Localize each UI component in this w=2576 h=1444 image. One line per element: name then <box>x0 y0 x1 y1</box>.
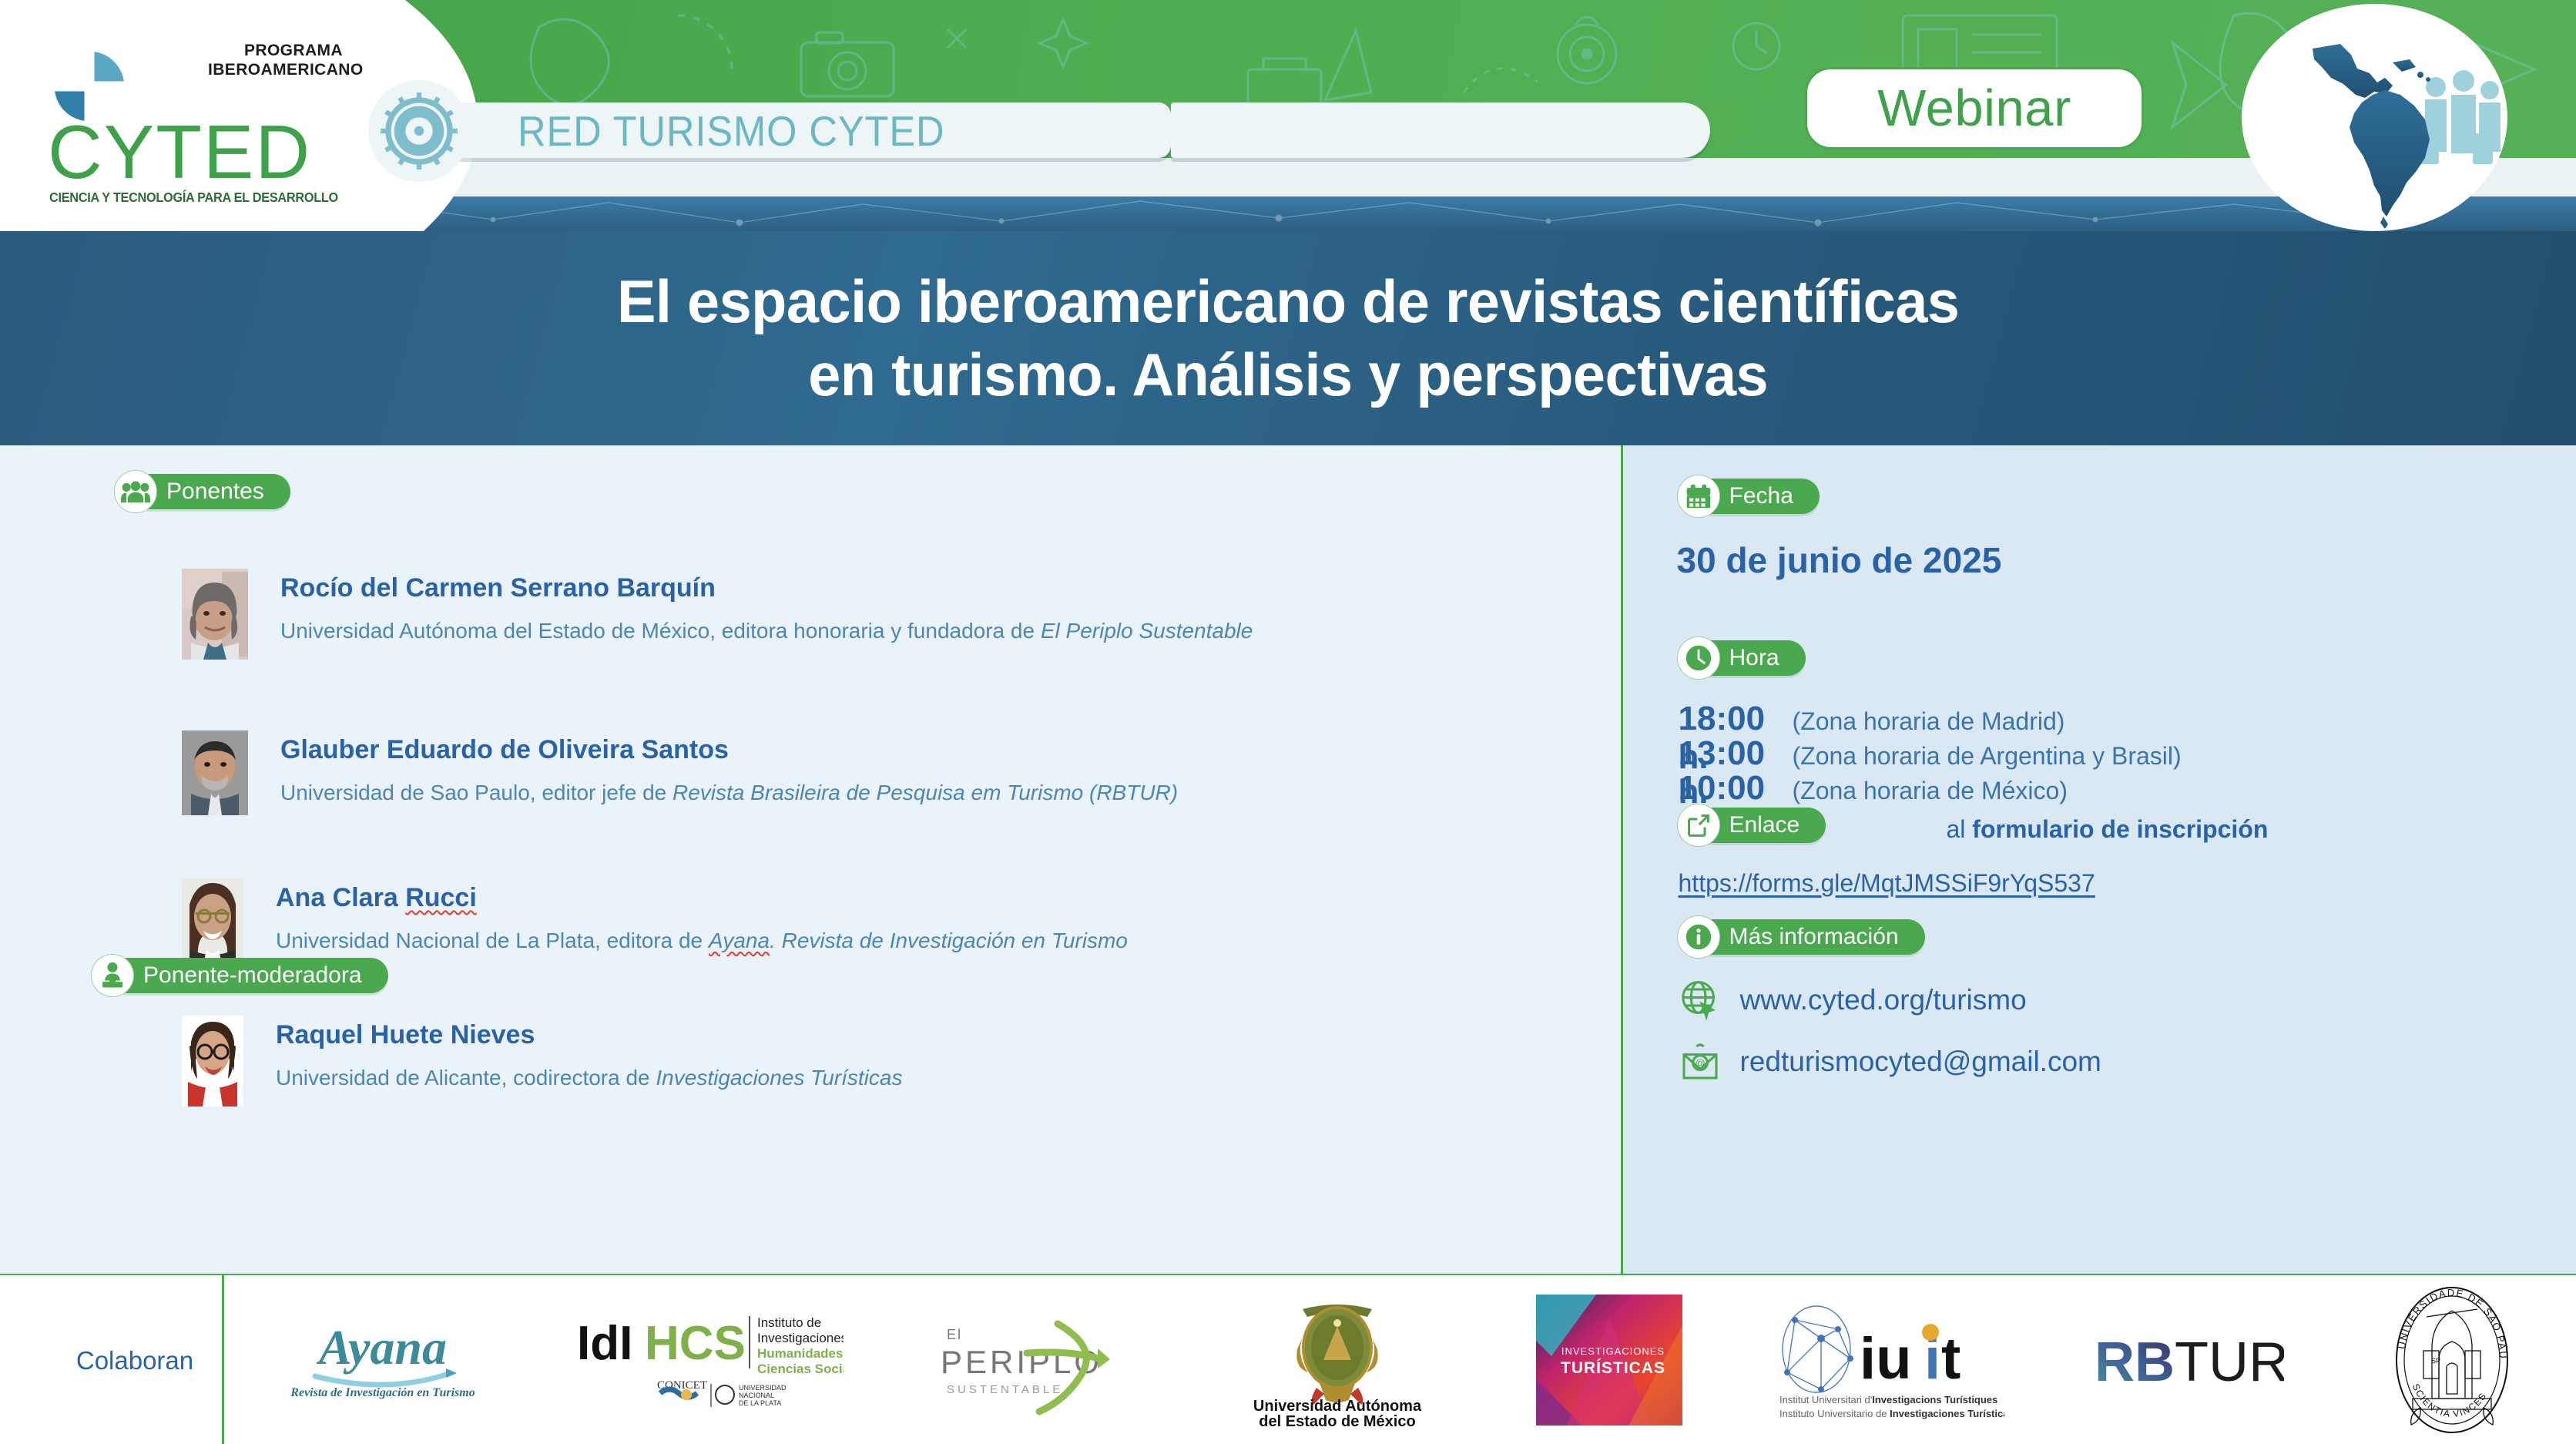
rbtur-logo: RB TUR <box>2084 1318 2292 1402</box>
svg-text:Instituto de: Instituto de <box>757 1315 821 1330</box>
svg-text:SCIENTIA VINCES: SCIENTIA VINCES <box>2410 1382 2488 1419</box>
latin-america-globe <box>2242 4 2507 231</box>
time-zone: (Zona horaria de México) <box>1793 777 2068 805</box>
speaker-affiliation: Universidad Nacional de La Plata, editor… <box>276 925 1128 956</box>
speaker-row: Ana Clara Rucci Universidad Nacional de … <box>182 878 1128 965</box>
enlace-pill: Enlace <box>1709 808 1826 843</box>
website-row[interactable]: www.cyted.org/turismo <box>1679 979 2027 1022</box>
speaker-name: Ana Clara Rucci <box>276 882 1128 915</box>
globe-cursor-icon <box>1679 979 1722 1022</box>
svg-text:Instituto Universitario de Inv: Instituto Universitario de Investigacion… <box>1779 1408 2004 1419</box>
speaker-row: Rocío del Carmen Serrano Barquín Univers… <box>182 569 1253 660</box>
el-periplo-sustentable-logo: El PERIPLO SUSTENTABLE <box>919 1302 1150 1418</box>
ayana-logo: Ayana Revista de Investigación en Turism… <box>267 1310 498 1410</box>
svg-text:HCS: HCS <box>645 1317 746 1370</box>
registration-link[interactable]: https://forms.gle/MqtJMSSiF9rYqS537 <box>1679 869 2095 898</box>
svg-text:IdI: IdI <box>577 1317 632 1370</box>
time-zone: (Zona horaria de Argentina y Brasil) <box>1793 742 2182 771</box>
programa-line2: IBEROAMERICANO <box>208 61 343 80</box>
programa-iberoamericano-label: PROGRAMA IBEROAMERICANO <box>208 42 343 80</box>
svg-text:Universidad Autónoma: Universidad Autónoma <box>1253 1398 1421 1415</box>
speaker-name: Rocío del Carmen Serrano Barquín <box>280 572 1253 605</box>
avatar <box>182 1016 243 1107</box>
svg-text:UNIVERSIDAD: UNIVERSIDAD <box>739 1384 787 1392</box>
hora-pill: Hora <box>1709 640 1806 676</box>
cyted-logo: CYTED CIENCIA Y TECNOLOGÍA PARA EL DESAR… <box>31 14 316 207</box>
speaker-affiliation: Universidad de Sao Paulo, editor jefe de… <box>280 777 1178 808</box>
svg-text:del Estado de México: del Estado de México <box>1259 1413 1415 1427</box>
svg-text:RB: RB <box>2095 1332 2175 1393</box>
details-panel: Fecha 30 de junio de 2025 Hora 18:00 h. … <box>1623 445 2576 1274</box>
title-band: El espacio iberoamericano de revistas ci… <box>0 231 2576 445</box>
ponentes-pill: Ponentes <box>146 474 290 509</box>
hora-badge: Hora <box>1677 636 1806 680</box>
avatar <box>182 730 248 815</box>
moderadora-label: Ponente-moderadora <box>143 962 362 989</box>
mas-informacion-label: Más información <box>1729 924 1899 950</box>
svg-text:Ayana: Ayana <box>316 1320 447 1375</box>
email-address: redturismocyted@gmail.com <box>1740 1046 2101 1078</box>
moderadora-pill: Ponente-moderadora <box>123 958 388 993</box>
fecha-pill: Fecha <box>1709 479 1820 514</box>
partner-logos: Ayana Revista de Investigación en Turism… <box>231 1275 2576 1444</box>
people-group-icon <box>114 470 157 513</box>
avatar <box>182 569 248 660</box>
cyted-wordmark: CYTED <box>48 114 311 190</box>
ponentes-badge: Ponentes <box>114 470 290 513</box>
programa-line1: PROGRAMA <box>208 42 343 61</box>
ponentes-label: Ponentes <box>166 479 264 505</box>
svg-text:DE LA PLATA: DE LA PLATA <box>739 1399 781 1407</box>
clock-icon <box>1677 636 1720 680</box>
svg-text:SUSTENTABLE: SUSTENTABLE <box>947 1383 1063 1396</box>
calendar-icon <box>1677 475 1720 518</box>
svg-text:El: El <box>947 1327 962 1342</box>
speaker-name: Glauber Eduardo de Oliveira Santos <box>280 734 1178 767</box>
svg-text:Humanidades y: Humanidades y <box>757 1346 844 1361</box>
time-zone: (Zona horaria de Madrid) <box>1793 707 2065 736</box>
svg-text:NACIONAL: NACIONAL <box>739 1392 774 1399</box>
enlace-badge[interactable]: Enlace <box>1677 804 1826 847</box>
speaker-affiliation: Universidad Autónoma del Estado de Méxic… <box>280 616 1253 646</box>
svg-text:Institut Universitari d'Invest: Institut Universitari d'Investigacions T… <box>1779 1394 1997 1405</box>
webinar-badge: Webinar <box>1805 67 2144 149</box>
svg-text:@: @ <box>1695 1057 1705 1069</box>
svg-text:t: t <box>1941 1326 1961 1392</box>
speakers-panel: Ponentes <box>0 445 1621 1274</box>
cyted-tagline: CIENCIA Y TECNOLOGÍA PARA EL DESARROLLO <box>49 190 338 206</box>
page-title: El espacio iberoamericano de revistas ci… <box>617 265 1959 411</box>
uaem-logo: Universidad Autónoma del Estado de Méxic… <box>1222 1292 1453 1427</box>
latin-america-map-icon <box>2242 4 2507 231</box>
content-area: Ponentes <box>0 445 2576 1274</box>
svg-text:INVESTIGACIONES: INVESTIGACIONES <box>1561 1345 1664 1357</box>
iuit-logo: iu i t Institut Universitari d'Investiga… <box>1766 1298 2012 1422</box>
moderator-name: Raquel Huete Nieves <box>276 1019 902 1052</box>
svg-text:TUR: TUR <box>2175 1332 2284 1393</box>
svg-text:UNIVERSIDADE DE SÃO PAULO: UNIVERSIDADE DE SÃO PAULO <box>2379 1283 2509 1360</box>
svg-text:SP: SP <box>2431 1357 2440 1365</box>
footer-divider <box>222 1275 224 1444</box>
moderator-affiliation: Universidad de Alicante, codirectora de … <box>276 1063 902 1093</box>
svg-text:iu: iu <box>1860 1326 1912 1392</box>
hora-label: Hora <box>1729 645 1779 671</box>
investigaciones-turisticas-logo: INVESTIGACIONES TURÍSTICAS <box>1524 1295 1694 1426</box>
svg-text:Revista de Investigación en Tu: Revista de Investigación en Turismo <box>290 1386 475 1399</box>
email-row[interactable]: @ redturismocyted@gmail.com <box>1679 1040 2101 1083</box>
network-name-label: RED TURISMO CYTED <box>518 107 1098 155</box>
title-line-2: en turismo. Análisis y perspectivas <box>617 338 1959 411</box>
website-url: www.cyted.org/turismo <box>1740 984 2027 1016</box>
moderator-row: Raquel Huete Nieves Universidad de Alica… <box>182 1016 902 1107</box>
info-circle-icon <box>1677 915 1720 959</box>
fecha-badge: Fecha <box>1677 475 1820 518</box>
footer: Colaboran Ayana Revista de Investigación… <box>0 1274 2576 1442</box>
gear-badge <box>368 80 470 182</box>
mas-informacion-badge: Más información <box>1677 915 1925 959</box>
enlace-label: Enlace <box>1729 812 1800 838</box>
colaboran-label: Colaboran <box>46 1346 223 1375</box>
envelope-at-icon: @ <box>1679 1040 1722 1083</box>
title-line-1: El espacio iberoamericano de revistas ci… <box>617 265 1959 338</box>
fecha-label: Fecha <box>1729 483 1793 509</box>
header-banner: CYTED CIENCIA Y TECNOLOGÍA PARA EL DESAR… <box>0 0 2576 231</box>
speaker-row: Glauber Eduardo de Oliveira Santos Unive… <box>182 730 1178 815</box>
mas-informacion-pill: Más información <box>1709 919 1925 955</box>
avatar <box>182 878 243 965</box>
svg-text:TURÍSTICAS: TURÍSTICAS <box>1561 1359 1665 1377</box>
moderadora-badge: Ponente-moderadora <box>91 954 388 997</box>
enlace-lead-text: al formulario de inscripción <box>1947 815 2269 844</box>
webinar-label: Webinar <box>1877 79 2071 138</box>
network-name-pill-extension <box>1171 102 1710 158</box>
gear-icon <box>379 91 459 171</box>
svg-text:Ciencias Sociales: Ciencias Sociales <box>757 1362 844 1376</box>
svg-text:Investigaciones en: Investigaciones en <box>757 1331 844 1345</box>
date-value: 30 de junio de 2025 <box>1677 539 2002 581</box>
speaker-podium-icon <box>91 954 134 997</box>
external-link-icon <box>1677 804 1720 847</box>
usp-logo: UNIVERSIDADE DE SÃO PAULO SCIENTIA VINCE… <box>2363 1283 2541 1437</box>
idihcs-logo: IdI HCS Instituto de Investigaciones en … <box>570 1302 847 1418</box>
